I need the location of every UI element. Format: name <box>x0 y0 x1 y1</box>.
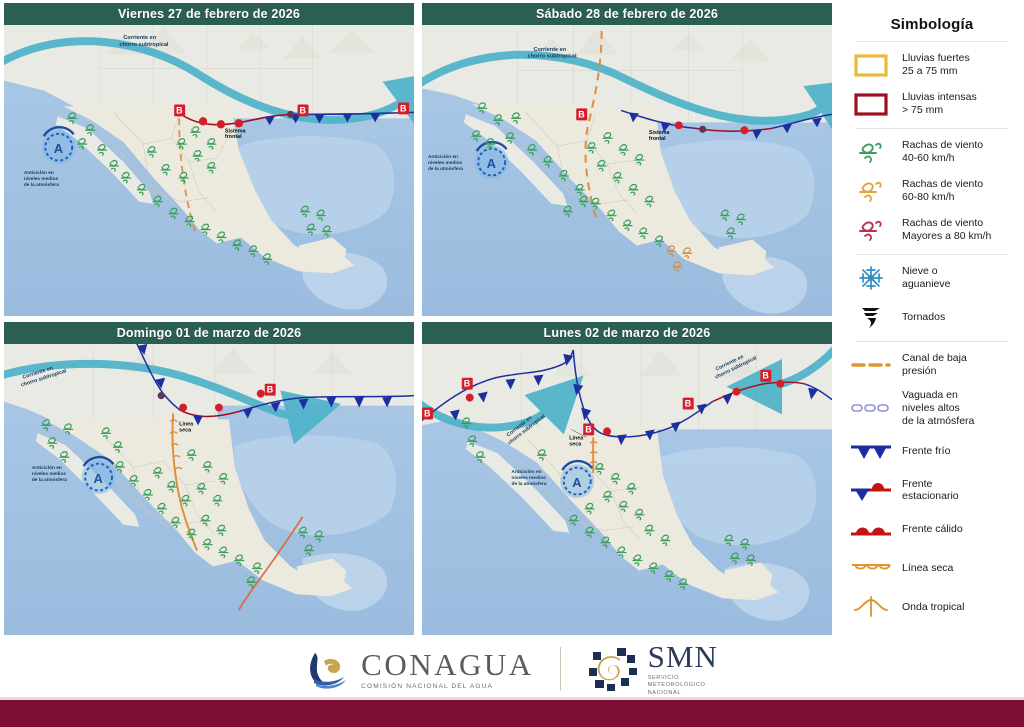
legend-label: Nieve oaguanieve <box>902 265 950 291</box>
svg-text:chorro subtropical: chorro subtropical <box>119 42 169 48</box>
map-canvas-lunes[interactable]: Corriente en chorro subtropical Corrient… <box>422 342 832 635</box>
legend-divider-3 <box>856 254 1008 255</box>
svg-text:niveles medios: niveles medios <box>428 160 463 166</box>
panel-title-sabado: Sábado 28 de febrero de 2026 <box>422 3 832 25</box>
legend-item-linea-seca[interactable]: Línea seca <box>848 553 1016 583</box>
legend-label: Línea seca <box>902 562 953 575</box>
map-panel-viernes[interactable]: Viernes 27 de febrero de 2026 <box>0 0 418 319</box>
svg-text:Anticiclón en: Anticiclón en <box>24 170 54 176</box>
legend-item-rachas-60-80[interactable]: Rachas de viento60-80 km/h <box>848 176 1016 206</box>
panel-title-viernes: Viernes 27 de febrero de 2026 <box>4 3 414 25</box>
legend-item-canal-baja-presion[interactable]: Canal de bajapresión <box>848 350 1016 380</box>
map-canvas-sabado[interactable]: Corriente en chorro subtropical B <box>422 23 832 316</box>
legend-item-onda-tropical[interactable]: Onda tropical <box>848 592 1016 622</box>
svg-text:B: B <box>464 379 471 389</box>
svg-text:B: B <box>578 109 585 119</box>
legend-item-frente-calido[interactable]: Frente cálido <box>848 514 1016 544</box>
svg-text:Corriente en: Corriente en <box>533 47 566 53</box>
map-panel-grid: Viernes 27 de febrero de 2026 <box>0 0 836 638</box>
legend-item-vaguada[interactable]: Vaguada enniveles altosde la atmósfera <box>848 389 1016 427</box>
dry-line-icon <box>848 553 894 583</box>
footer-logos: CONAGUA COMISIÓN NACIONAL DEL AGUA <box>0 638 1024 700</box>
svg-text:niveles medios: niveles medios <box>512 475 547 481</box>
svg-text:B: B <box>685 399 692 409</box>
svg-text:B: B <box>400 103 407 113</box>
upper-level-trough-icon <box>848 393 894 423</box>
cold-front-icon <box>848 436 894 466</box>
legend-label: Frente frío <box>902 445 950 458</box>
legend-item-rachas-40-60[interactable]: Rachas de viento40-60 km/h <box>848 137 1016 167</box>
low-pressure-channel-icon <box>848 350 894 380</box>
svg-text:niveles medios: niveles medios <box>32 471 67 477</box>
svg-text:de la atmósfera: de la atmósfera <box>24 182 59 188</box>
map-panel-lunes[interactable]: Lunes 02 de marzo de 2026 <box>418 319 836 638</box>
tropical-wave-icon <box>848 592 894 622</box>
svg-text:B: B <box>424 408 431 418</box>
svg-text:seca: seca <box>179 427 192 433</box>
svg-text:A: A <box>572 475 581 490</box>
footer-strip <box>0 700 1024 727</box>
svg-text:Anticiclón en: Anticiclón en <box>428 154 458 160</box>
svg-text:frontal: frontal <box>649 136 666 142</box>
legend-item-rachas-mayores-80[interactable]: Rachas de vientoMayores a 80 km/h <box>848 215 1016 245</box>
svg-text:de la atmósfera: de la atmósfera <box>428 166 463 172</box>
legend-item-lluvias-intensas[interactable]: Lluvias intensas> 75 mm <box>848 89 1016 119</box>
legend-label: Canal de bajapresión <box>902 352 967 378</box>
wind-gust-orange-icon <box>848 176 894 206</box>
forecast-map-page: Viernes 27 de febrero de 2026 <box>0 0 1024 727</box>
wind-gust-green-icon <box>848 137 894 167</box>
svg-text:Anticiclón en: Anticiclón en <box>512 469 542 475</box>
svg-text:Anticiclón en: Anticiclón en <box>32 465 62 471</box>
svg-text:B: B <box>300 105 307 115</box>
svg-text:B: B <box>267 385 274 395</box>
legend-label: Frenteestacionario <box>902 478 959 504</box>
legend-label: Lluvias fuertes25 a 75 mm <box>902 52 970 78</box>
warm-front-icon <box>848 514 894 544</box>
map-canvas-viernes[interactable]: Corriente en chorro subtropical <box>4 23 414 316</box>
legend-label: Lluvias intensas> 75 mm <box>902 91 977 117</box>
legend-panel: Simbología Lluvias fuertes25 a 75 mm Llu… <box>838 0 1024 638</box>
legend-label: Rachas de vientoMayores a 80 km/h <box>902 217 991 243</box>
legend-title: Simbología <box>848 16 1016 33</box>
svg-text:de la atmósfera: de la atmósfera <box>32 477 67 483</box>
svg-text:de la atmósfera: de la atmósfera <box>512 481 547 487</box>
svg-text:frontal: frontal <box>225 134 242 140</box>
svg-text:B: B <box>585 424 592 434</box>
rain-box-yellow-icon <box>848 50 894 80</box>
legend-item-tornados[interactable]: Tornados <box>848 302 1016 332</box>
legend-label: Vaguada enniveles altosde la atmósfera <box>902 389 974 427</box>
svg-text:A: A <box>54 141 63 156</box>
stationary-front-icon <box>848 475 894 505</box>
smn-name: SMN <box>648 641 718 672</box>
conagua-name: CONAGUA <box>361 649 534 680</box>
map-panel-sabado[interactable]: Sábado 28 de febrero de 2026 <box>418 0 836 319</box>
conagua-subtitle: COMISIÓN NACIONAL DEL AGUA <box>361 683 534 690</box>
legend-item-frente-estacionario[interactable]: Frenteestacionario <box>848 475 1016 505</box>
wind-gust-red-icon <box>848 215 894 245</box>
svg-text:chorro subtropical: chorro subtropical <box>527 54 577 60</box>
legend-label: Tornados <box>902 311 945 324</box>
legend-divider-2 <box>856 128 1008 129</box>
legend-label: Frente cálido <box>902 523 963 536</box>
map-canvas-domingo[interactable]: Corriente en chorro subtropical <box>4 342 414 635</box>
legend-label: Rachas de viento40-60 km/h <box>902 139 983 165</box>
legend-item-frente-frio[interactable]: Frente frío <box>848 436 1016 466</box>
panel-title-lunes: Lunes 02 de marzo de 2026 <box>422 322 832 344</box>
svg-text:seca: seca <box>569 441 582 447</box>
legend-divider-1 <box>856 41 1008 42</box>
smn-spiral-icon <box>587 646 639 692</box>
svg-text:niveles medios: niveles medios <box>24 176 59 182</box>
smn-subtitle: SERVICIOMETEOROLÓGICONACIONAL <box>648 675 718 698</box>
footer-divider <box>560 647 561 691</box>
smn-logo: SMN SERVICIOMETEOROLÓGICONACIONAL <box>587 641 718 698</box>
legend-divider-4 <box>856 341 1008 342</box>
legend-label: Onda tropical <box>902 601 964 614</box>
rain-box-red-icon <box>848 89 894 119</box>
snowflake-icon <box>848 263 894 293</box>
svg-text:Corriente en: Corriente en <box>123 35 156 41</box>
legend-label: Rachas de viento60-80 km/h <box>902 178 983 204</box>
conagua-logo: CONAGUA COMISIÓN NACIONAL DEL AGUA <box>306 647 534 691</box>
svg-text:A: A <box>94 471 103 486</box>
legend-item-nieve[interactable]: Nieve oaguanieve <box>848 263 1016 293</box>
footer: CONAGUA COMISIÓN NACIONAL DEL AGUA <box>0 638 1024 727</box>
panel-title-domingo: Domingo 01 de marzo de 2026 <box>4 322 414 344</box>
svg-text:B: B <box>762 371 769 381</box>
legend-item-lluvias-fuertes[interactable]: Lluvias fuertes25 a 75 mm <box>848 50 1016 80</box>
conagua-water-icon <box>306 647 352 691</box>
map-panel-domingo[interactable]: Domingo 01 de marzo de 2026 <box>0 319 418 638</box>
tornado-icon <box>848 302 894 332</box>
svg-text:A: A <box>487 156 496 171</box>
svg-text:B: B <box>176 105 183 115</box>
